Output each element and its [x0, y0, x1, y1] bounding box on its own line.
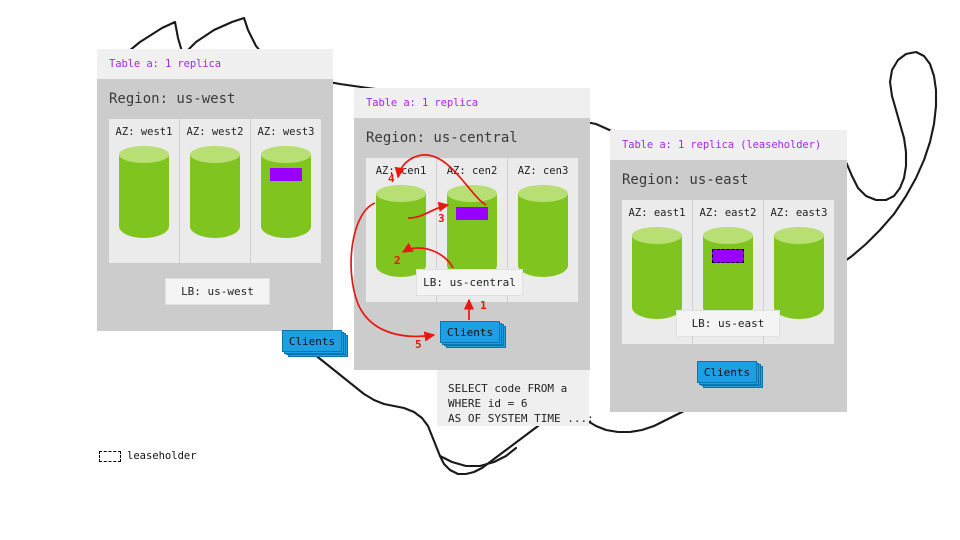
cylinder-west3[interactable]	[261, 146, 311, 238]
dashed-rectangle-icon	[99, 451, 121, 462]
panel-header-us-east: Table a: 1 replica (leaseholder)	[610, 130, 847, 160]
cylinder-west2[interactable]	[190, 146, 240, 238]
cylinder-top	[632, 227, 682, 244]
diagram-canvas: Table a: 1 replica Region: us-west AZ: w…	[0, 0, 960, 540]
replica-header-label: Table a: 1 replica	[366, 97, 478, 109]
cylinder-top	[119, 146, 169, 163]
az-label: AZ: west2	[187, 126, 244, 138]
cylinder-body	[774, 235, 824, 319]
panel-header-us-central: Table a: 1 replica	[354, 88, 590, 118]
cylinder-top	[190, 146, 240, 163]
cylinder-top	[447, 185, 497, 202]
region-title-us-west: Region: us-west	[109, 91, 235, 107]
replica-header-label: Table a: 1 replica (leaseholder)	[622, 139, 821, 151]
cylinder-body	[376, 193, 426, 277]
cylinder-body	[518, 193, 568, 277]
cylinder-top	[261, 146, 311, 163]
az-label: AZ: cen1	[376, 165, 427, 177]
cylinder-body	[447, 193, 497, 277]
region-title-us-central: Region: us-central	[366, 130, 518, 146]
az-label: AZ: east1	[629, 207, 686, 219]
lb-label: LB: us-west	[181, 285, 254, 298]
clients-sheet-front[interactable]: Clients	[440, 321, 500, 343]
region-panel-us-west: Table a: 1 replica Region: us-west AZ: w…	[97, 49, 333, 331]
lb-label: LB: us-central	[423, 276, 516, 289]
region-title-us-east: Region: us-east	[622, 172, 748, 188]
clients-label: Clients	[289, 335, 335, 348]
clients-us-east[interactable]: Clients	[697, 361, 763, 387]
replica-east2-leaseholder[interactable]	[712, 249, 744, 263]
sql-query-box: SELECT code FROM a WHERE id = 6 AS OF SY…	[437, 370, 589, 426]
az-cell-west3[interactable]: AZ: west3	[251, 119, 321, 263]
az-label: AZ: west1	[116, 126, 173, 138]
az-cell-west1[interactable]: AZ: west1	[109, 119, 180, 263]
clients-us-central[interactable]: Clients	[440, 321, 506, 347]
clients-label: Clients	[447, 326, 493, 339]
lb-box-us-central-overlay[interactable]: LB: us-central	[416, 269, 523, 296]
lb-box-us-east-overlay[interactable]: LB: us-east	[676, 310, 780, 337]
cylinder-top	[703, 227, 753, 244]
replica-west3[interactable]	[270, 168, 302, 181]
cylinder-body	[119, 154, 169, 238]
replica-cen2[interactable]	[456, 207, 488, 220]
legend-label: leaseholder	[127, 450, 197, 462]
cylinder-body	[190, 154, 240, 238]
clients-sheet-front[interactable]: Clients	[282, 330, 342, 352]
cylinder-east1[interactable]	[632, 227, 682, 319]
sql-line-2: WHERE id = 6	[448, 396, 589, 411]
cylinder-top	[376, 185, 426, 202]
replica-header-label: Table a: 1 replica	[109, 58, 221, 70]
cylinder-east2[interactable]	[703, 227, 753, 319]
cylinder-body	[261, 154, 311, 238]
cylinder-cen2[interactable]	[447, 185, 497, 277]
panel-header-us-west: Table a: 1 replica	[97, 49, 333, 79]
cylinder-body	[632, 235, 682, 319]
cylinder-top	[774, 227, 824, 244]
az-label: AZ: east3	[771, 207, 828, 219]
cylinder-top	[518, 185, 568, 202]
az-cell-west2[interactable]: AZ: west2	[180, 119, 251, 263]
clients-sheet-front[interactable]: Clients	[697, 361, 757, 383]
az-strip-us-west: AZ: west1 AZ: west2 AZ: west3	[109, 119, 321, 263]
legend: leaseholder	[99, 450, 197, 462]
clients-label: Clients	[704, 366, 750, 379]
cylinder-west1[interactable]	[119, 146, 169, 238]
az-label: AZ: cen2	[447, 165, 498, 177]
cylinder-east3[interactable]	[774, 227, 824, 319]
cylinder-body	[703, 235, 753, 319]
az-label: AZ: west3	[258, 126, 315, 138]
az-label: AZ: cen3	[518, 165, 569, 177]
lb-label: LB: us-east	[692, 317, 765, 330]
az-label: AZ: east2	[700, 207, 757, 219]
sql-line-3: AS OF SYSTEM TIME ...;	[448, 411, 589, 426]
sql-line-1: SELECT code FROM a	[448, 381, 589, 396]
cylinder-cen3[interactable]	[518, 185, 568, 277]
clients-us-west[interactable]: Clients	[282, 330, 348, 356]
cylinder-cen1[interactable]	[376, 185, 426, 277]
lb-box-us-west[interactable]: LB: us-west	[165, 278, 270, 305]
